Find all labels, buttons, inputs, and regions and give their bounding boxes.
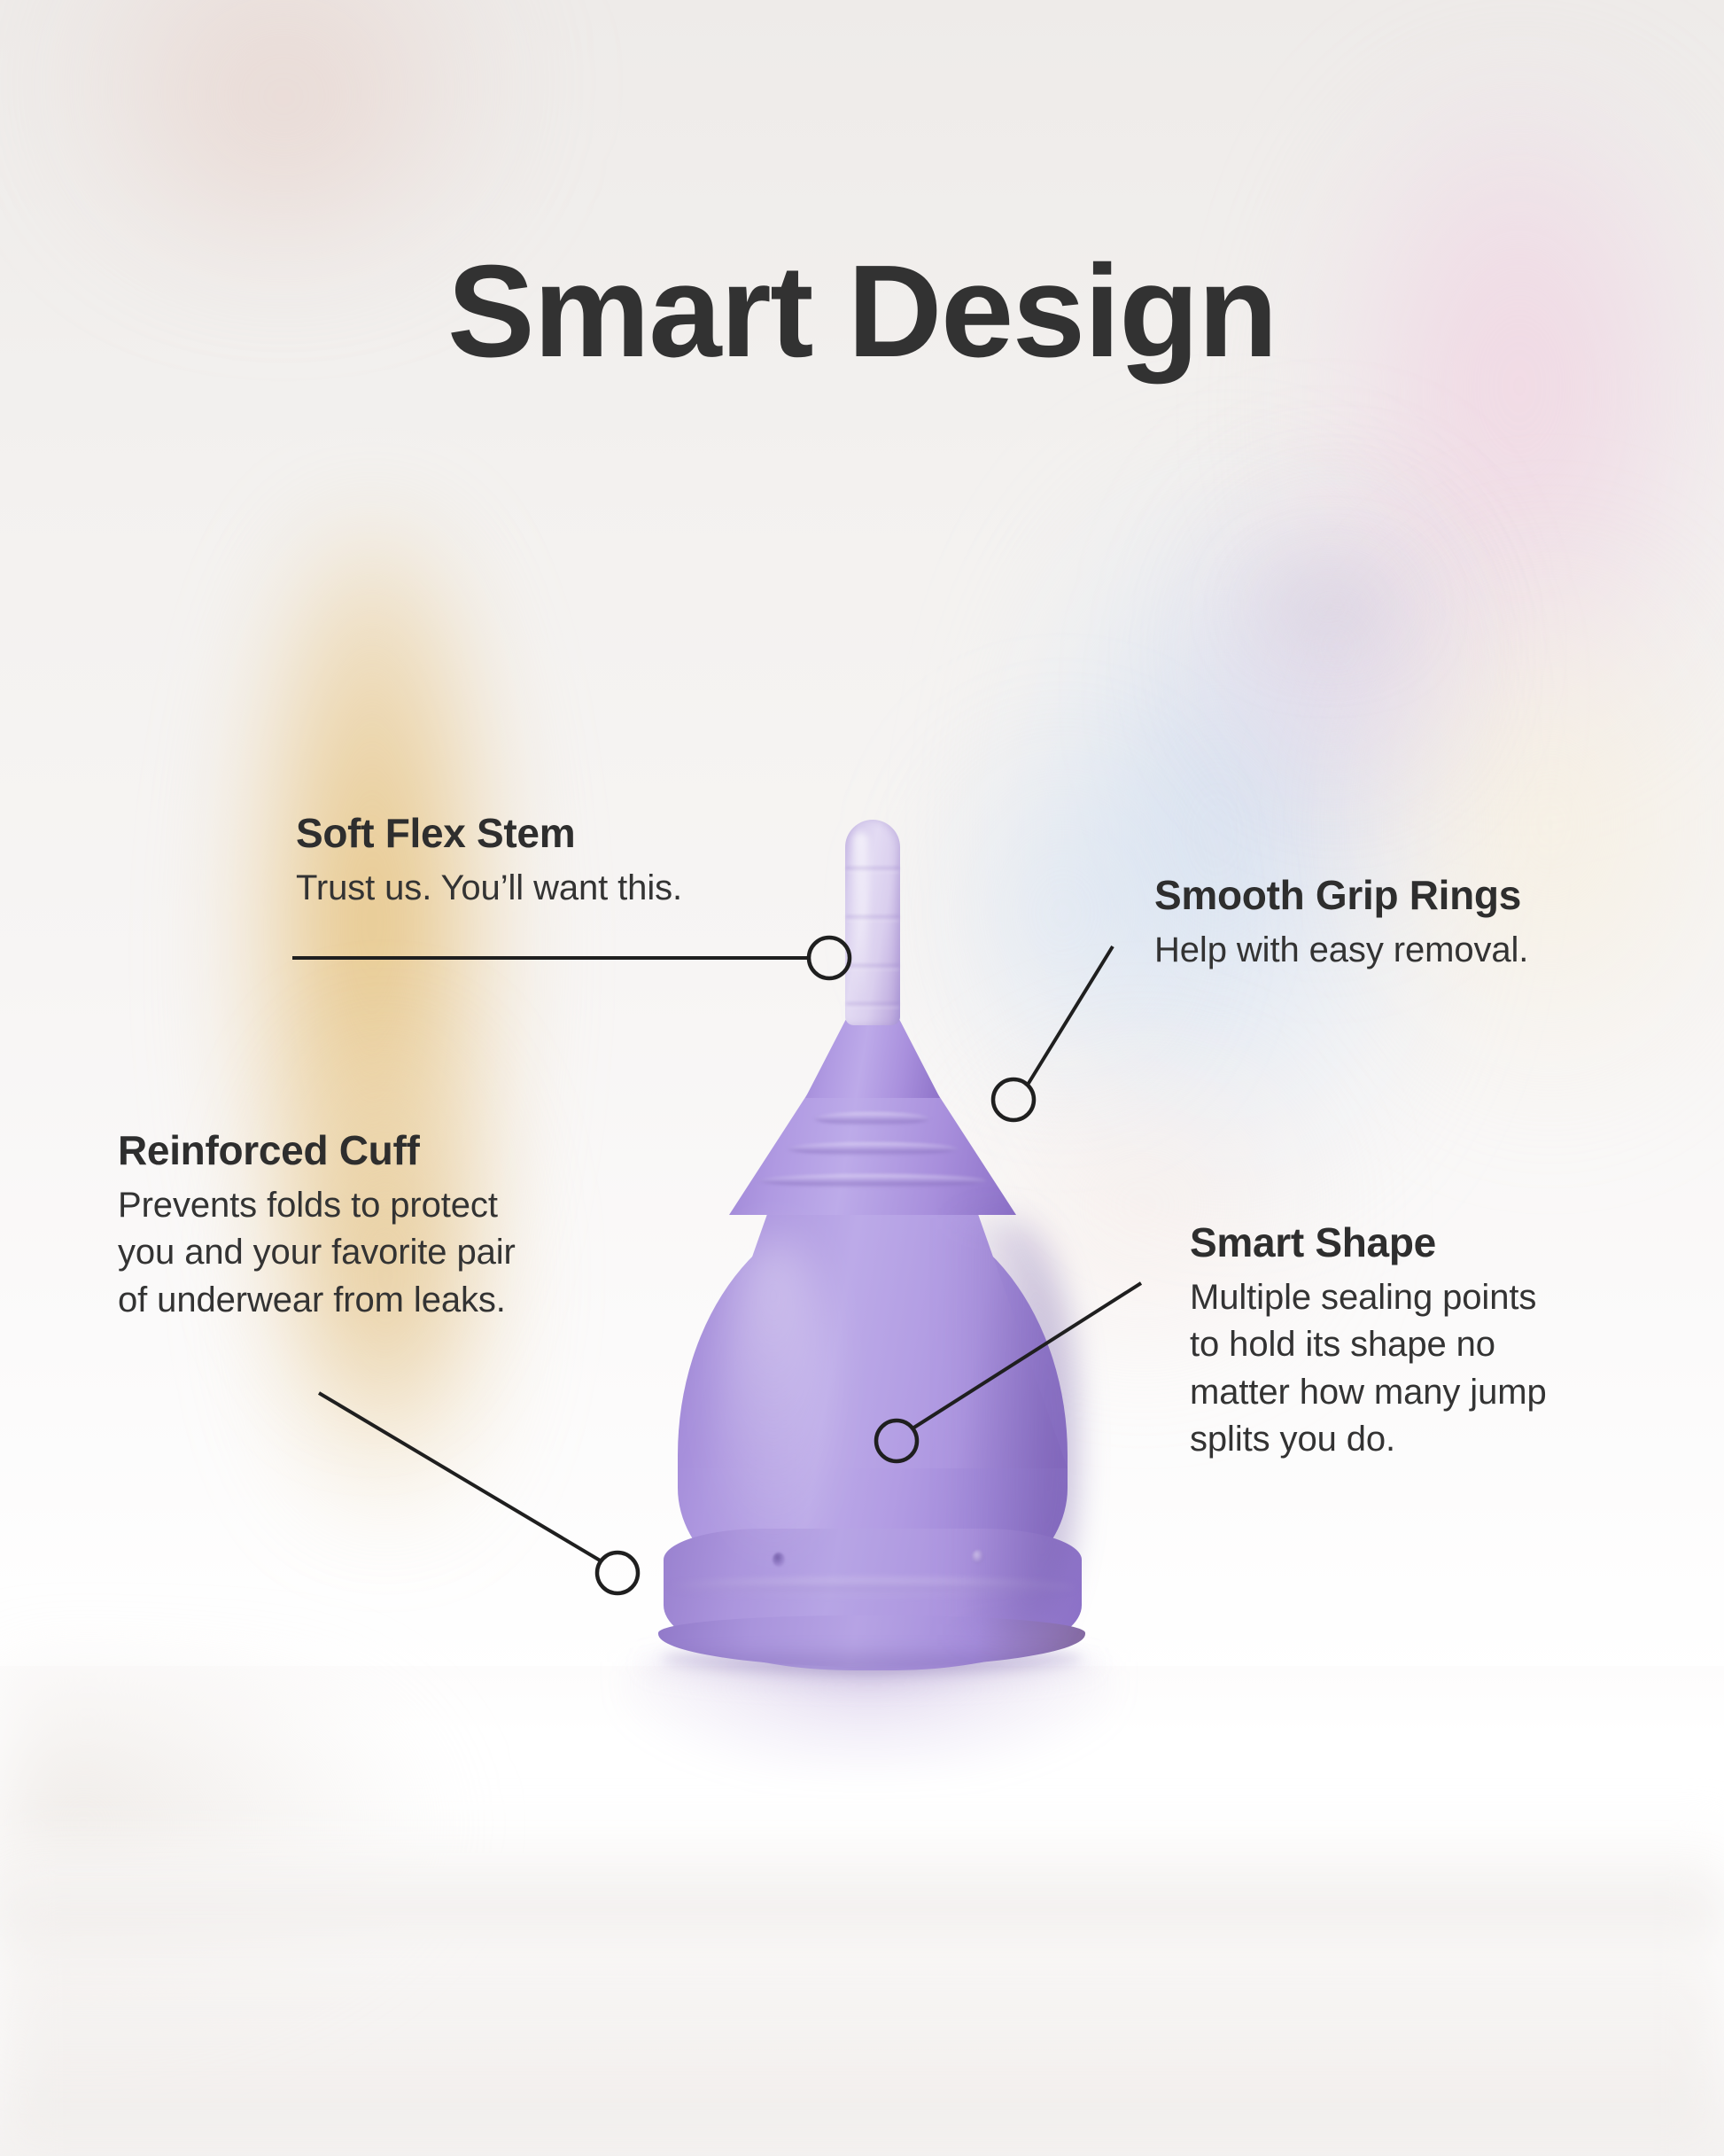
- stem-ridge-3: [846, 964, 899, 970]
- callout-smooth-grip-rings: Smooth Grip Rings Help with easy removal…: [1154, 874, 1686, 974]
- cup-body-highlight: [720, 1236, 827, 1573]
- callout-heading-reinforced-cuff: Reinforced Cuff: [118, 1129, 667, 1173]
- callout-heading-smooth-grip-rings: Smooth Grip Rings: [1154, 874, 1686, 918]
- callout-body-soft-flex-stem: Trust us. You’ll want this.: [296, 865, 845, 913]
- cup-base-rim-shadow: [662, 1644, 1082, 1672]
- callout-body-line: to hold its shape no: [1190, 1325, 1495, 1364]
- callout-body-smooth-grip-rings: Help with easy removal.: [1154, 927, 1686, 975]
- cup-soft-flex-stem: [845, 820, 900, 1025]
- callout-body-line: Prevents folds to protect: [118, 1186, 498, 1225]
- stem-ridge-2: [846, 915, 899, 922]
- cup-grip-ring-1: [814, 1112, 929, 1125]
- callout-heading-soft-flex-stem: Soft Flex Stem: [296, 812, 845, 856]
- page-title: Smart Design: [0, 246, 1724, 377]
- callout-body-line: splits you do.: [1190, 1420, 1395, 1459]
- cup-grip-ring-2: [788, 1142, 958, 1156]
- product-menstrual-cup: [596, 820, 1145, 1715]
- callout-body-line: of underwear from leaks.: [118, 1280, 506, 1319]
- stem-ridge-4: [846, 1002, 899, 1008]
- callout-body-line: matter how many jump: [1190, 1373, 1547, 1412]
- callout-body-line: you and your favorite pair: [118, 1233, 516, 1272]
- callout-heading-smart-shape: Smart Shape: [1190, 1221, 1686, 1265]
- counter-bottom-fade: [0, 1864, 1724, 2156]
- callout-soft-flex-stem: Soft Flex Stem Trust us. You’ll want thi…: [296, 812, 845, 912]
- stem-ridge-1: [846, 867, 899, 873]
- callout-body-line: Multiple sealing points: [1190, 1278, 1536, 1317]
- callout-body-smart-shape: Multiple sealing points to hold its shap…: [1190, 1274, 1686, 1464]
- callout-smart-shape: Smart Shape Multiple sealing points to h…: [1190, 1221, 1686, 1464]
- callout-reinforced-cuff: Reinforced Cuff Prevents folds to protec…: [118, 1129, 667, 1324]
- infographic-page: Smart Design: [0, 0, 1724, 2156]
- cup-body-shading: [951, 1218, 1075, 1635]
- callout-body-reinforced-cuff: Prevents folds to protect you and your f…: [118, 1182, 667, 1325]
- cup-grip-ring-3: [759, 1174, 986, 1187]
